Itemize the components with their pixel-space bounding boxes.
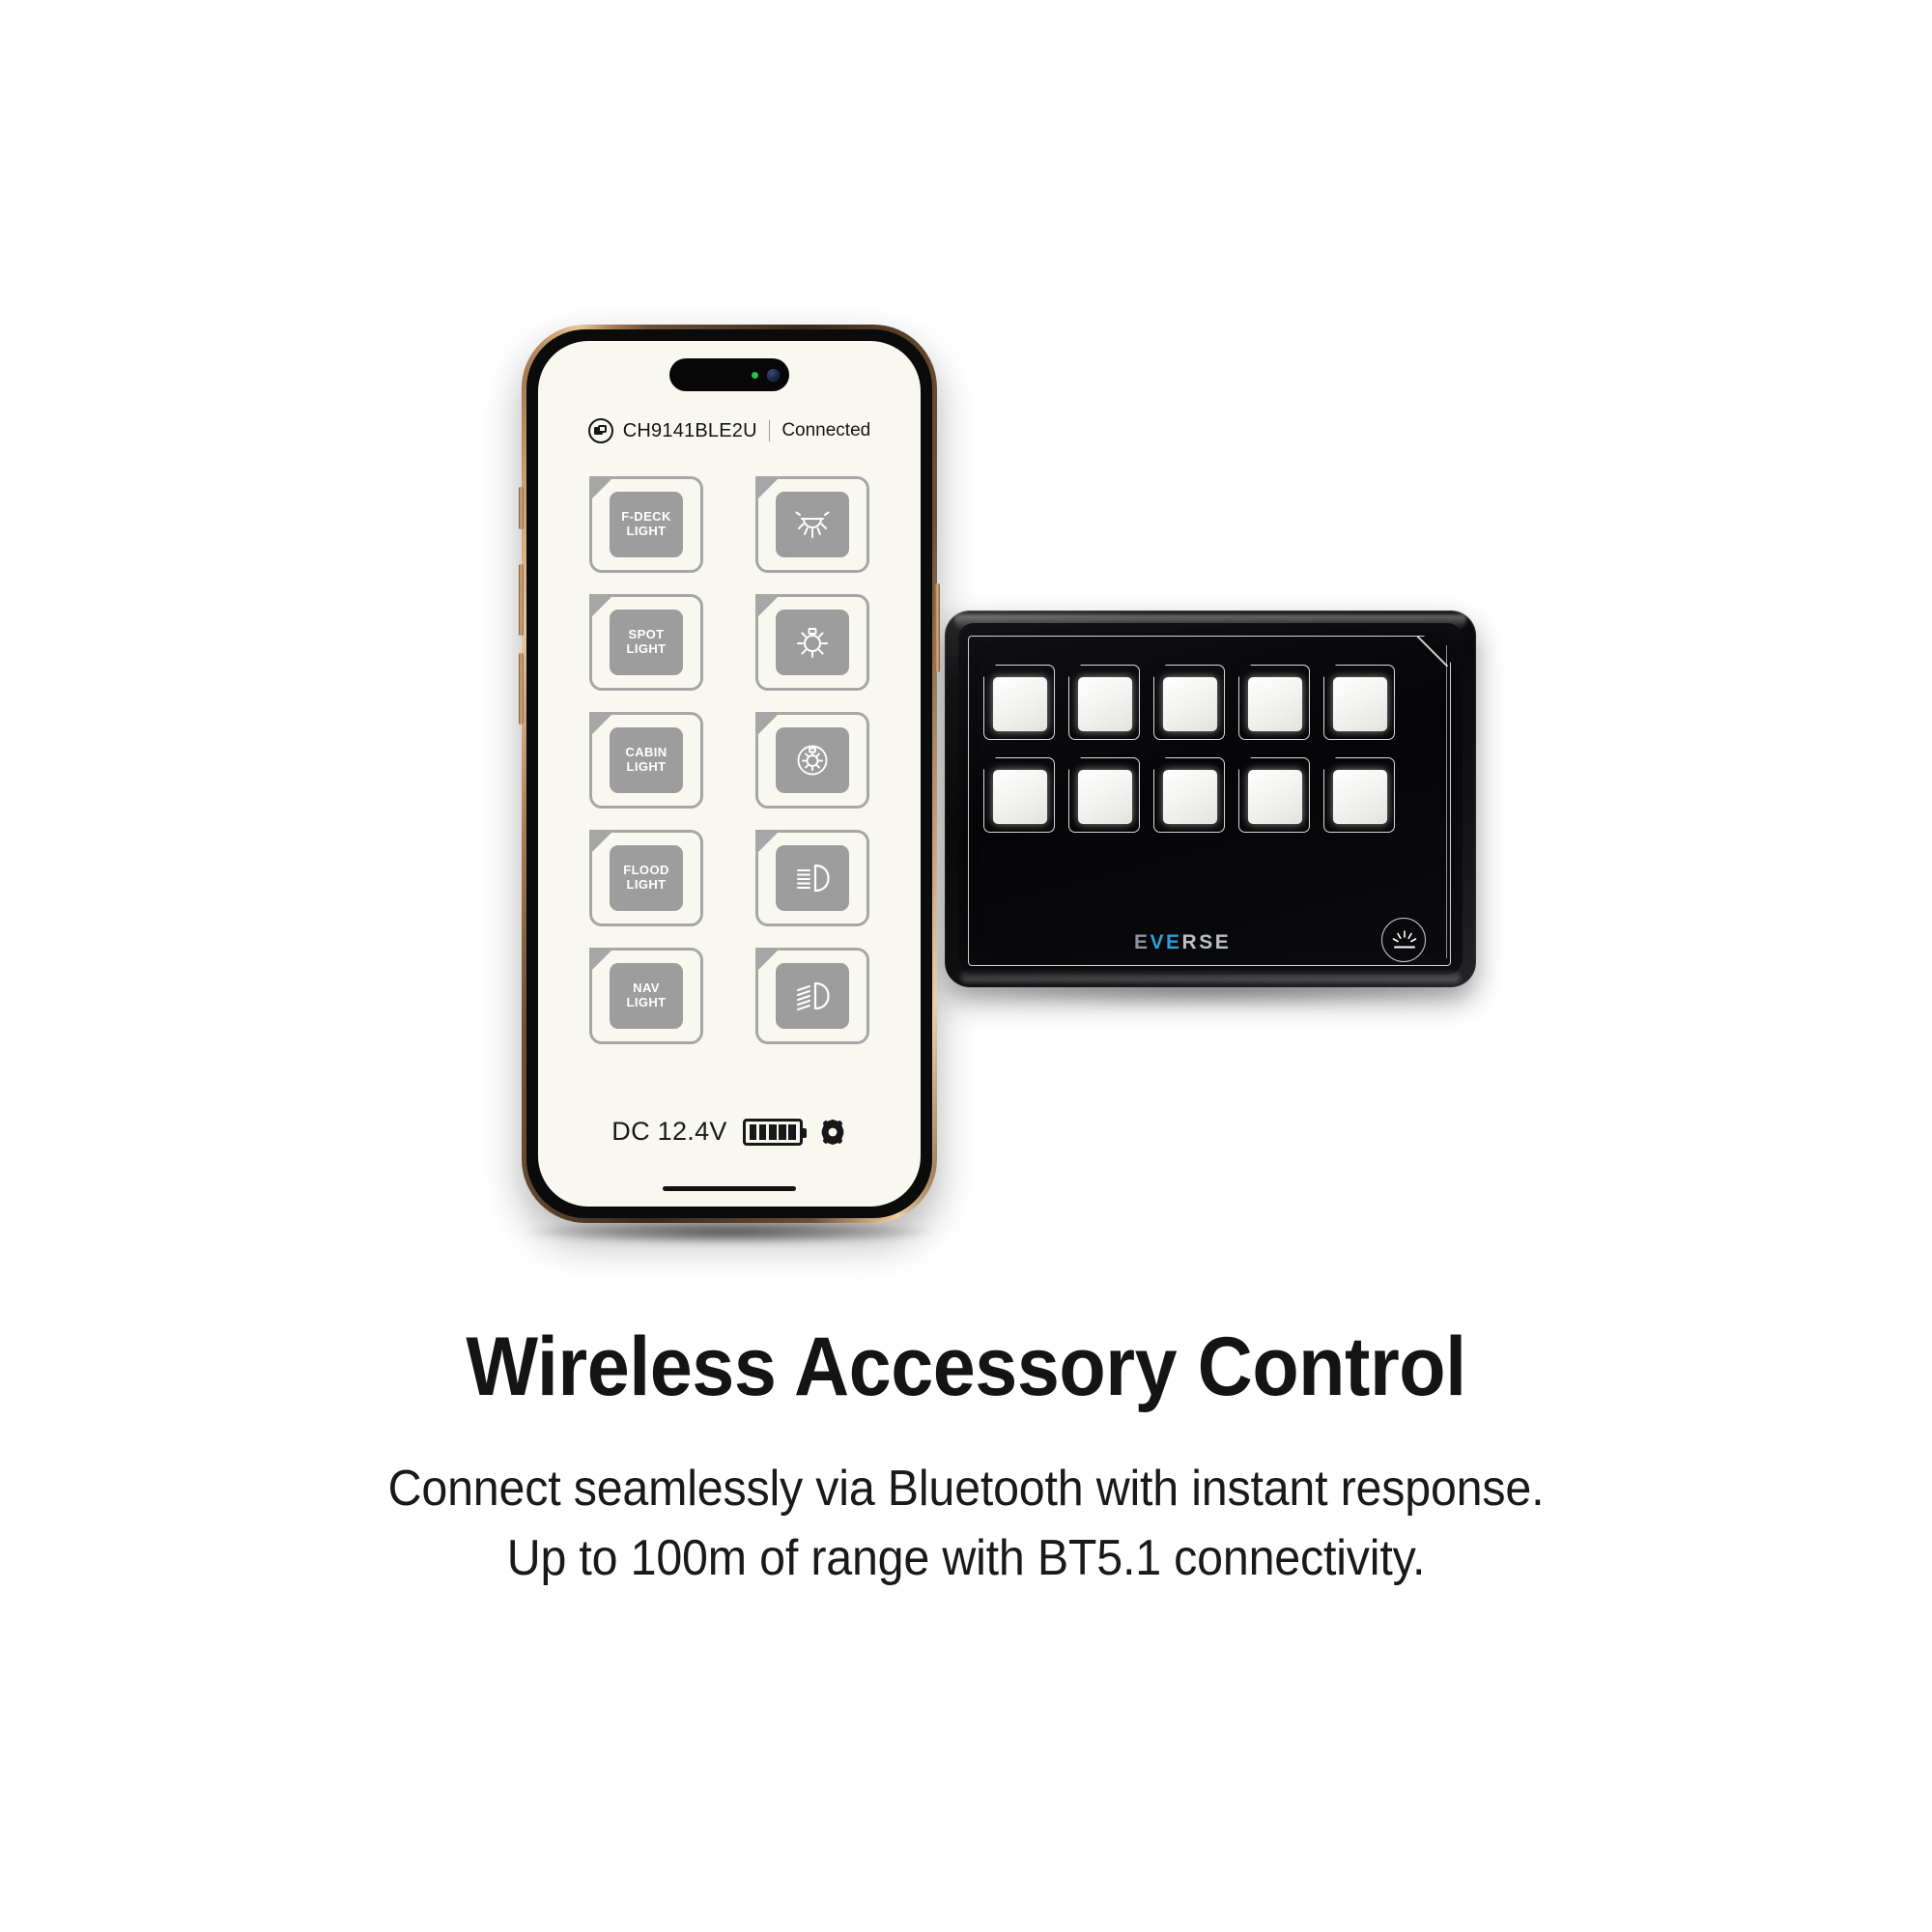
- flood-light-icon: [790, 856, 835, 900]
- keypad-key-cap: [1333, 677, 1387, 731]
- keypad-key[interactable]: [1323, 665, 1395, 740]
- accessory-button-grid: F-DECKLIGHT: [538, 476, 921, 1044]
- page-subtitle-line-2: Up to 100m of range with BT5.1 connectiv…: [68, 1524, 1864, 1594]
- header-divider: [769, 420, 771, 441]
- keypad-key-cap: [1333, 770, 1387, 824]
- keypad-key[interactable]: [1238, 665, 1310, 740]
- smartphone-mockup: CH9141BLE2U Connected F-DECKLIGHT: [522, 325, 937, 1223]
- product-feature-graphic: EVERSE: [0, 0, 1932, 1932]
- button-cap: FLOODLIGHT: [610, 845, 683, 911]
- button-cap: [776, 845, 849, 911]
- device-name-label: CH9141BLE2U: [623, 420, 757, 442]
- brand-letter-group-1: E: [1134, 931, 1151, 954]
- keypad-key[interactable]: [983, 665, 1055, 740]
- keypad-key[interactable]: [1238, 757, 1310, 833]
- keypad-key-cap: [1248, 770, 1302, 824]
- cabin-light-icon: [790, 738, 835, 782]
- everse-brand-logo: EVERSE: [1134, 931, 1231, 954]
- button-cap: SPOTLIGHT: [610, 610, 683, 675]
- accessory-button-deck-light-icon[interactable]: [755, 476, 869, 573]
- page-title: Wireless Accessory Control: [77, 1323, 1855, 1410]
- accessory-button-flood-light[interactable]: FLOODLIGHT: [589, 830, 703, 926]
- phone-bezel: CH9141BLE2U Connected F-DECKLIGHT: [526, 329, 932, 1218]
- button-label: CABINLIGHT: [625, 746, 667, 775]
- page-subtitle: Connect seamlessly via Bluetooth with in…: [68, 1455, 1864, 1594]
- button-cap: [776, 610, 849, 675]
- keypad-key[interactable]: [1323, 757, 1395, 833]
- connection-status-label: Connected: [781, 420, 870, 441]
- keypad-key-cap: [1163, 770, 1217, 824]
- button-cap: NAVLIGHT: [610, 963, 683, 1029]
- deck-light-icon: [790, 502, 835, 547]
- home-indicator: [663, 1186, 796, 1191]
- app-footer: DC 12.4V: [538, 1117, 921, 1147]
- keypad-key[interactable]: [1068, 757, 1140, 833]
- keypad-key-cap: [1163, 677, 1217, 731]
- everse-keypad-device: EVERSE: [945, 611, 1476, 987]
- phone-volume-up-button[interactable]: [519, 564, 524, 636]
- keypad-key[interactable]: [1068, 665, 1140, 740]
- front-camera-lens: [767, 369, 780, 382]
- device-window-icon: [588, 418, 613, 443]
- accessory-button-cabin-light-icon[interactable]: [755, 712, 869, 809]
- keypad-button-grid: [983, 665, 1406, 835]
- keypad-key-cap: [993, 770, 1047, 824]
- accessory-button-cabin-light[interactable]: CABINLIGHT: [589, 712, 703, 809]
- accessory-button-spot-light[interactable]: SPOTLIGHT: [589, 594, 703, 691]
- keypad-key-cap: [1248, 677, 1302, 731]
- nav-light-icon: [790, 974, 835, 1018]
- phone-volume-down-button[interactable]: [519, 653, 524, 724]
- page-subtitle-line-1: Connect seamlessly via Bluetooth with in…: [68, 1455, 1864, 1524]
- button-cap: [776, 492, 849, 557]
- phone-screen: CH9141BLE2U Connected F-DECKLIGHT: [538, 341, 921, 1207]
- dynamic-island: [669, 358, 789, 391]
- caption-block: Wireless Accessory Control Connect seaml…: [0, 1323, 1932, 1594]
- recording-indicator-dot: [752, 372, 758, 379]
- keypad-key-cap: [993, 677, 1047, 731]
- button-cap: CABINLIGHT: [610, 727, 683, 793]
- keypad-key[interactable]: [1153, 665, 1225, 740]
- accessory-button-f-deck-light[interactable]: F-DECKLIGHT: [589, 476, 703, 573]
- keypad-key[interactable]: [983, 757, 1055, 833]
- spot-light-icon: [790, 620, 835, 665]
- accessory-button-nav-light[interactable]: NAVLIGHT: [589, 948, 703, 1044]
- accessory-button-nav-light-icon[interactable]: [755, 948, 869, 1044]
- light-burst-icon: [1381, 918, 1426, 962]
- accessory-button-spot-light-icon[interactable]: [755, 594, 869, 691]
- brand-letter-group-2: VE: [1151, 931, 1182, 954]
- brand-letter-group-3: RSE: [1182, 931, 1232, 954]
- gear-icon[interactable]: [818, 1118, 847, 1147]
- phone-power-button[interactable]: [935, 583, 940, 672]
- button-label: F-DECKLIGHT: [621, 510, 671, 539]
- button-label: SPOTLIGHT: [627, 628, 667, 657]
- accessory-button-flood-light-icon[interactable]: [755, 830, 869, 926]
- battery-icon: [743, 1119, 803, 1146]
- keypad-key-cap: [1078, 677, 1132, 731]
- voltage-label: DC 12.4V: [611, 1117, 726, 1147]
- phone-action-button[interactable]: [519, 487, 524, 529]
- hero-product-scene: EVERSE: [0, 0, 1932, 1294]
- keypad-key[interactable]: [1153, 757, 1225, 833]
- keypad-key-cap: [1078, 770, 1132, 824]
- button-label: NAVLIGHT: [627, 981, 667, 1010]
- app-header: CH9141BLE2U Connected: [538, 418, 921, 443]
- button-cap: [776, 727, 849, 793]
- button-label: FLOODLIGHT: [623, 864, 669, 893]
- button-cap: [776, 963, 849, 1029]
- button-cap: F-DECKLIGHT: [610, 492, 683, 557]
